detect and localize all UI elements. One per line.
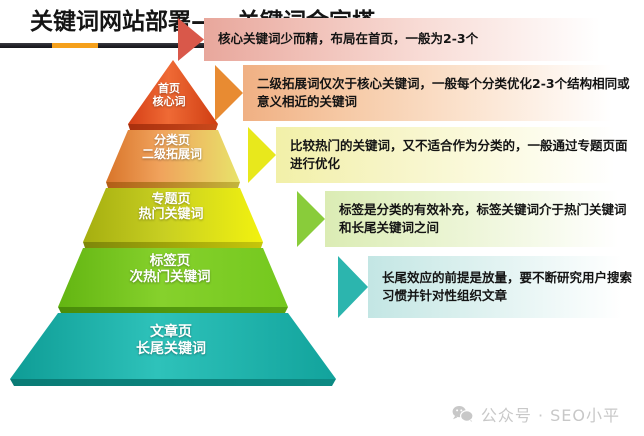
callout-body-4: 标签是分类的有效补充，标签关键词介于热门关键词和长尾关键词之间 xyxy=(325,191,644,247)
callout-body-1: 核心关键词少而精，布局在首页，一般为2-3个 xyxy=(204,18,644,61)
callout-row-1: 核心关键词少而精，布局在首页，一般为2-3个 xyxy=(178,18,644,61)
callout-text-1: 核心关键词少而精，布局在首页，一般为2-3个 xyxy=(218,30,478,48)
pyramid-tier-1-shape xyxy=(128,60,218,130)
callout-text-5: 长尾效应的前提是放量，要不断研究用户搜索习惯并针对性组织文章 xyxy=(382,269,634,305)
callout-arrow-4-icon xyxy=(297,191,325,247)
callout-row-2: 二级拓展词仅次于核心关键词，一般每个分类优化2-3个结构相同或意义相近的关键词 xyxy=(215,65,644,121)
callout-arrow-1-icon xyxy=(178,18,204,61)
title-underline-accent xyxy=(52,43,98,48)
footer-watermark-text: 公众号 · SEO小平 xyxy=(481,402,620,426)
pyramid-tier-3-shape xyxy=(83,188,263,248)
callout-row-3: 比较热门的关键词，又不适合作为分类的，一般通过专题页面进行优化 xyxy=(248,127,644,183)
callout-body-3: 比较热门的关键词，又不适合作为分类的，一般通过专题页面进行优化 xyxy=(276,127,644,183)
footer-watermark: 公众号 · SEO小平 xyxy=(452,402,620,426)
callout-body-2: 二级拓展词仅次于核心关键词，一般每个分类优化2-3个结构相同或意义相近的关键词 xyxy=(243,65,644,121)
callout-arrow-3-icon xyxy=(248,127,276,183)
callout-text-4: 标签是分类的有效补充，标签关键词介于热门关键词和长尾关键词之间 xyxy=(339,201,634,237)
callout-arrow-2-icon xyxy=(215,65,243,121)
pyramid-tier-2-shape xyxy=(106,130,240,188)
callout-body-5: 长尾效应的前提是放量，要不断研究用户搜索习惯并针对性组织文章 xyxy=(368,256,644,318)
callout-text-3: 比较热门的关键词，又不适合作为分类的，一般通过专题页面进行优化 xyxy=(290,137,634,173)
callout-text-2: 二级拓展词仅次于核心关键词，一般每个分类优化2-3个结构相同或意义相近的关键词 xyxy=(257,75,634,111)
pyramid-tier-4-shape xyxy=(58,248,288,313)
callout-row-4: 标签是分类的有效补充，标签关键词介于热门关键词和长尾关键词之间 xyxy=(297,191,644,247)
wechat-icon xyxy=(452,405,474,423)
pyramid-tier-5-shape xyxy=(10,313,336,386)
callout-row-5: 长尾效应的前提是放量，要不断研究用户搜索习惯并针对性组织文章 xyxy=(338,256,644,318)
callout-arrow-5-icon xyxy=(338,256,368,318)
